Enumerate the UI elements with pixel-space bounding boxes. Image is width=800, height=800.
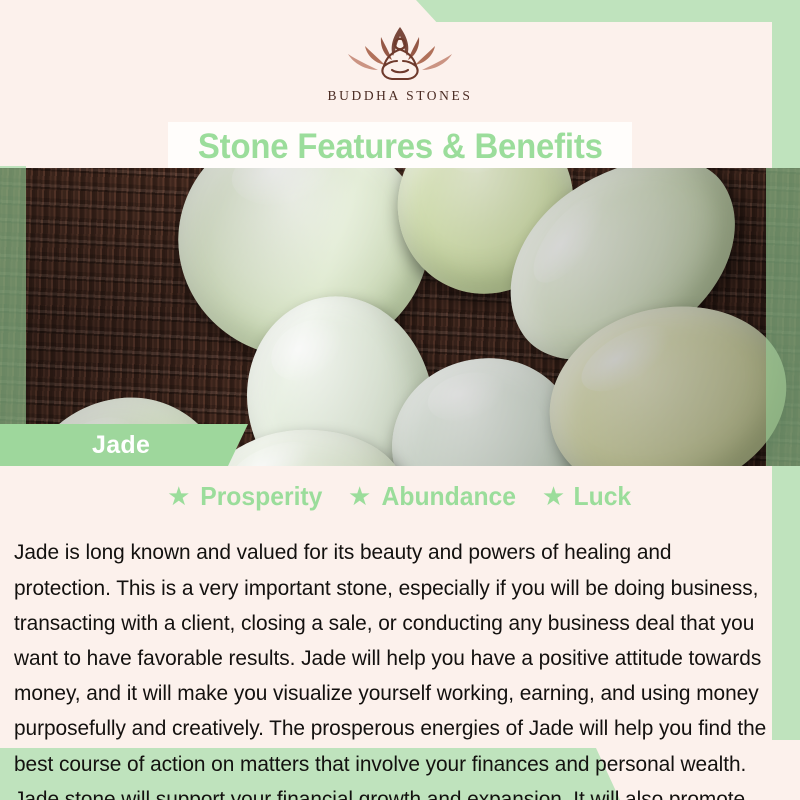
benefit-item: ★ Prosperity <box>167 483 326 509</box>
benefits-row: ★ Prosperity ★ Abundance ★ Luck <box>0 478 800 514</box>
photo-veil-left <box>0 168 26 466</box>
lotus-meditation-icon <box>340 22 460 84</box>
page-title: Stone Features & Benefits <box>198 129 603 164</box>
benefit-label: Luck <box>574 483 632 509</box>
stone-photo <box>0 168 800 466</box>
star-icon: ★ <box>542 483 565 509</box>
description-text: Jade is long known and valued for its be… <box>14 535 771 800</box>
brand-header: BUDDHA STONES <box>0 22 800 112</box>
brand-wordmark: BUDDHA STONES <box>328 88 473 104</box>
photo-vignette <box>0 168 800 466</box>
stone-name-banner: Jade <box>0 424 248 466</box>
title-banner: Stone Features & Benefits <box>168 122 632 170</box>
stone-name-label: Jade <box>92 431 150 460</box>
benefit-item: ★ Abundance <box>348 483 520 509</box>
benefit-label: Abundance <box>382 483 516 509</box>
benefit-item: ★ Luck <box>542 483 633 509</box>
benefit-label: Prosperity <box>201 483 323 509</box>
star-icon: ★ <box>348 483 371 509</box>
photo-veil-right <box>766 168 800 466</box>
star-icon: ★ <box>167 483 190 509</box>
infographic-poster: BUDDHA STONES Stone Features & Benefits … <box>0 0 800 800</box>
